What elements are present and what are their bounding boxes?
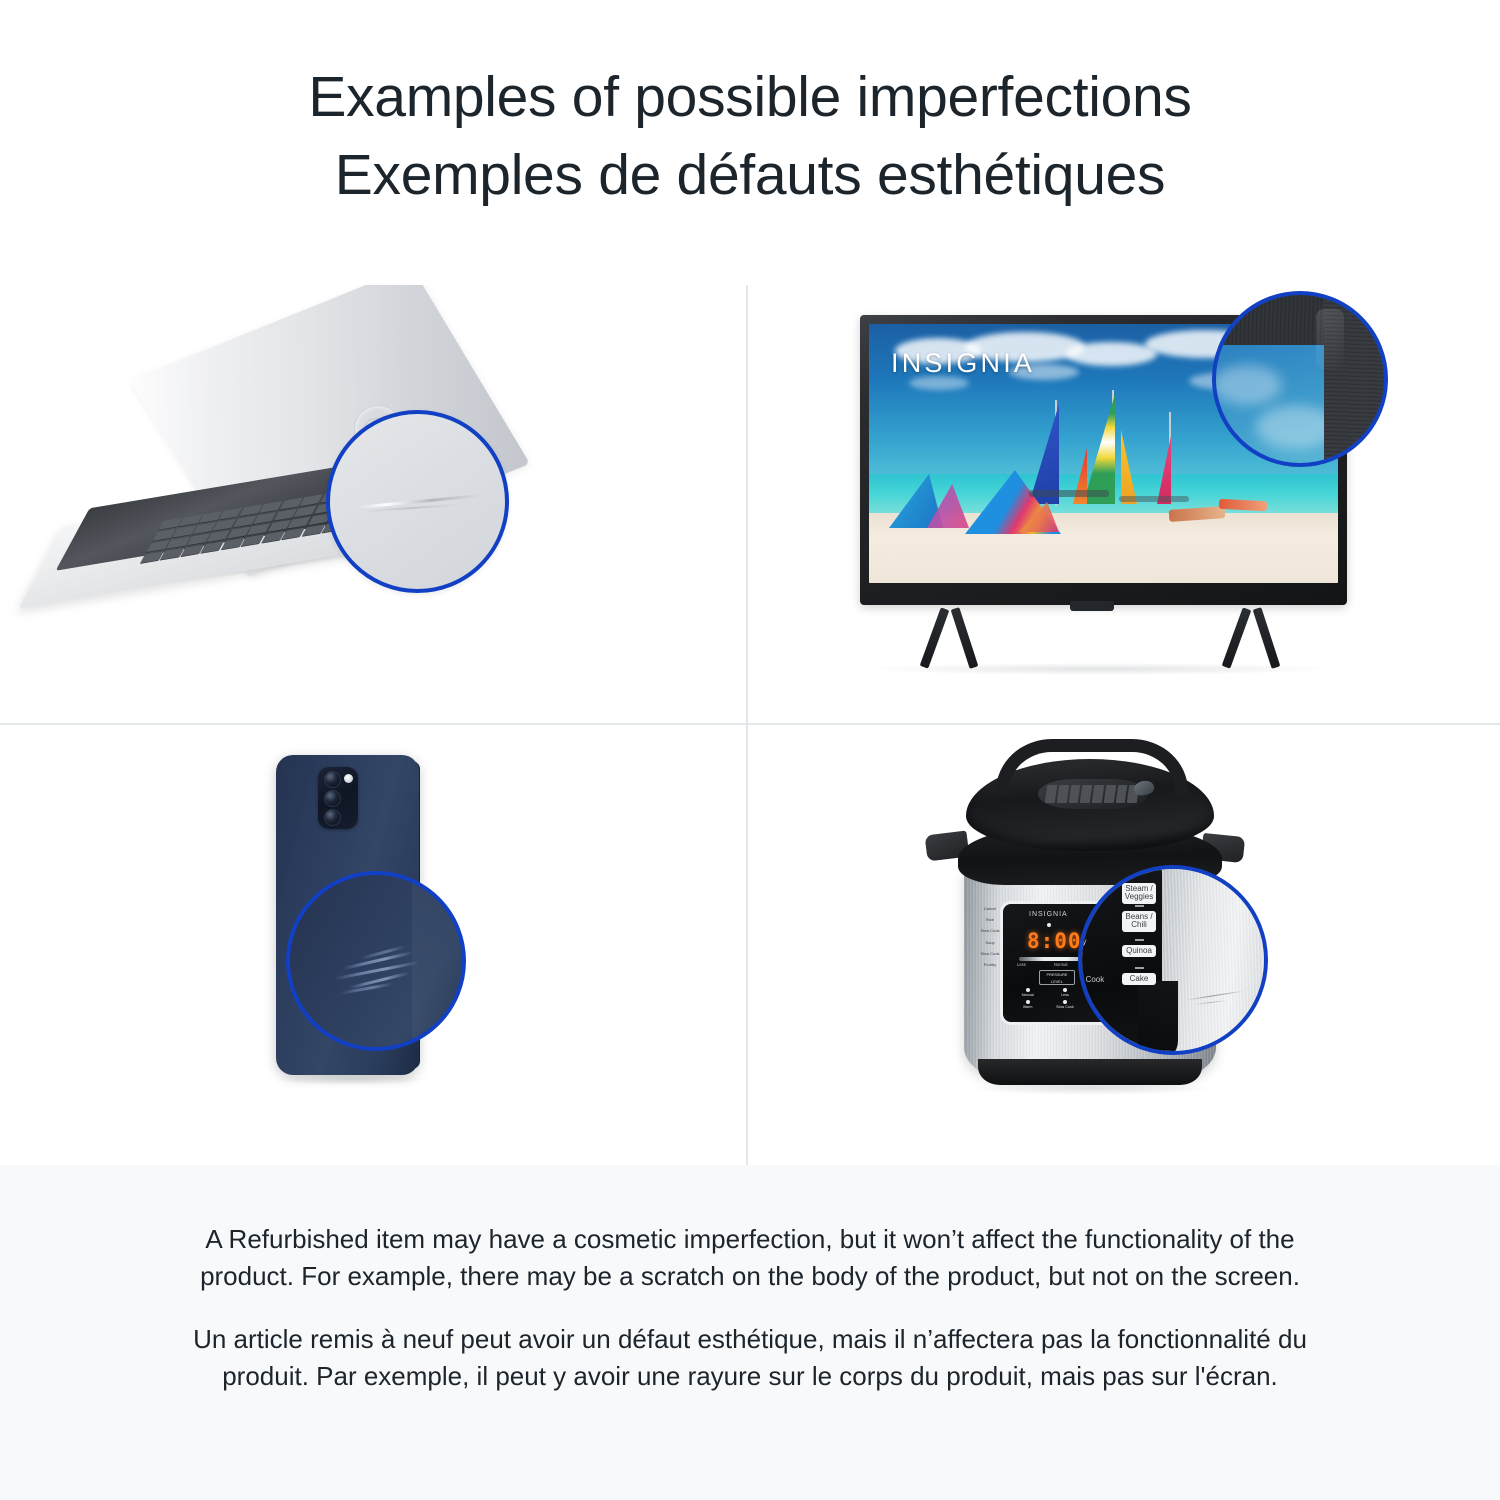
cooker-mode-button[interactable]: Manual <box>1011 988 1044 997</box>
example-cell-tv: INSIGNIA <box>748 285 1500 725</box>
cooker-left-label[interactable]: Poultry <box>980 963 1000 967</box>
example-cell-pressure-cooker: Cancel Rice Slow Cook Soup Slow Cook Pou… <box>748 725 1500 1165</box>
examples-grid: INSIGNIA <box>0 285 1500 1165</box>
cooker-magnified-button[interactable]: Beans / Chili <box>1122 911 1156 932</box>
footer-description: A Refurbished item may have a cosmetic i… <box>0 1165 1500 1500</box>
cooker-mode-button[interactable]: Slow Cook <box>1048 1000 1081 1009</box>
cooker-left-label[interactable]: Slow Cook <box>980 952 1000 956</box>
cooker-mode-button[interactable]: Warm <box>1011 1000 1044 1009</box>
pressure-box-line1: PRESSURE <box>1040 972 1074 979</box>
laptop-illustration <box>0 285 746 723</box>
magnifier-circle-phone <box>286 871 466 1051</box>
cooker-brand-label: INSIGNIA <box>1029 911 1068 918</box>
pressure-box-line2: LEVEL <box>1040 979 1074 986</box>
footer-paragraph-fr: Un article remis à neuf peut avoir un dé… <box>190 1321 1310 1395</box>
cooker-left-label[interactable]: Slow Cook <box>980 929 1000 933</box>
camera-flash-icon <box>344 774 353 783</box>
camera-lens-icon <box>324 809 341 826</box>
cooker-left-label[interactable]: Soup <box>980 941 1000 945</box>
magnifier-circle-laptop <box>326 410 509 593</box>
footer-paragraph-en: A Refurbished item may have a cosmetic i… <box>190 1221 1310 1295</box>
cooker-magnified-button[interactable]: Steam / Veggies <box>1122 883 1156 904</box>
example-cell-laptop <box>0 285 748 725</box>
tv-leg-left2 <box>951 607 979 669</box>
example-cell-phone <box>0 725 748 1165</box>
camera-lens-icon <box>324 771 341 788</box>
cooker-pressure-level-box[interactable]: PRESSURE LEVEL <box>1039 970 1075 985</box>
cooker-magnified-button[interactable]: Cake <box>1122 973 1156 985</box>
cooker-left-button-column: Cancel Rice Slow Cook Soup Slow Cook Pou… <box>980 907 1000 967</box>
pressure-label-less: Less <box>1017 962 1026 967</box>
tv-leg-right <box>1222 607 1252 668</box>
pressure-label-normal: Normal <box>1054 962 1068 967</box>
magnifier-circle-tv <box>1212 291 1388 467</box>
tv-illustration: INSIGNIA <box>748 285 1500 723</box>
camera-lens-icon <box>324 790 341 807</box>
cooker-led-display: 8:00 <box>1027 929 1082 953</box>
phone-scratch-mark <box>335 961 420 980</box>
cooker-left-label[interactable]: Rice <box>980 918 1000 922</box>
phone-illustration <box>0 725 746 1165</box>
tv-stand-base <box>1070 601 1114 611</box>
cooker-base <box>978 1059 1202 1085</box>
magnifier-circle-cooker: Delay Slow Cook Steam / Veggies Beans / … <box>1078 865 1268 1055</box>
cooker-indicator-led <box>1047 923 1051 927</box>
cooker-handle <box>996 739 1188 795</box>
phone-camera-module <box>318 767 358 829</box>
page-title-fr: Exemples de défauts esthétiques <box>0 136 1500 214</box>
cooker-magnified-side-label: Slow Cook <box>1078 975 1104 984</box>
tv-screen-logo: INSIGNIA <box>891 348 1035 379</box>
tv-shadow <box>870 663 1330 675</box>
tv-corner-scuff <box>1316 309 1344 369</box>
page-title-en: Examples of possible imperfections <box>0 58 1500 136</box>
tv-leg-right2 <box>1253 607 1281 669</box>
cooker-left-label[interactable]: Cancel <box>980 907 1000 911</box>
pressure-cooker-illustration: Cancel Rice Slow Cook Soup Slow Cook Pou… <box>748 725 1500 1165</box>
cooker-mode-button[interactable]: Less <box>1048 988 1081 997</box>
cooker-magnified-button[interactable]: Quinoa <box>1122 945 1156 957</box>
tv-leg-left <box>920 607 950 668</box>
page-header: Examples of possible imperfections Exemp… <box>0 0 1500 285</box>
tv-magnified-screen <box>1212 341 1331 467</box>
